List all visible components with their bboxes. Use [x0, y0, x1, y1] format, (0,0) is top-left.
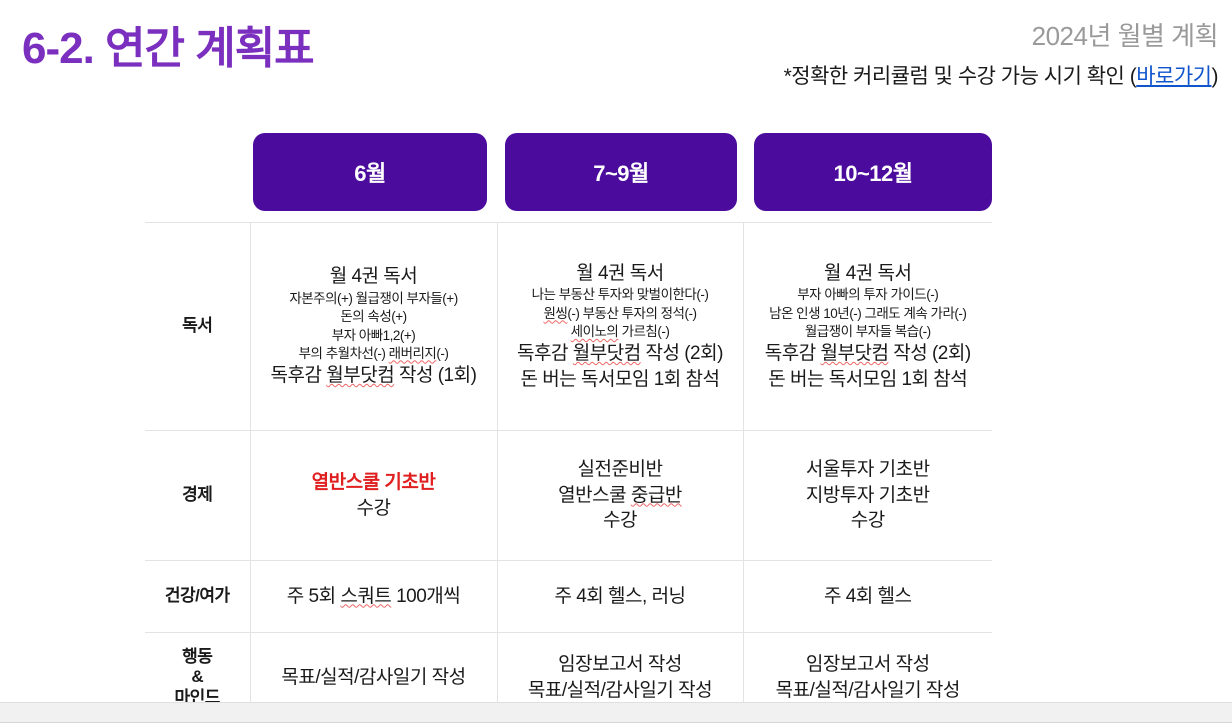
cell-line: 월 4권 독서: [502, 261, 739, 287]
column-header-chip-0: 6월: [253, 133, 487, 211]
row-label: 경제: [145, 431, 250, 561]
curriculum-note-suffix: ): [1212, 65, 1219, 88]
table-cell: 주 4회 헬스, 러닝: [497, 561, 743, 633]
cell-line: 주 4회 헬스: [748, 584, 989, 610]
cell-line: 월 4권 독서: [255, 264, 493, 290]
cell-line: 목표/실적/감사일기 작성: [502, 678, 739, 704]
cell-line: 열반스쿨 기초반: [255, 470, 493, 496]
cell-line: 수강: [255, 496, 493, 522]
cell-line: 자본주의(+) 월급쟁이 부자들(+): [255, 290, 493, 308]
cell-line: 남온 인생 10년(-) 그래도 계속 가라(-): [748, 305, 989, 323]
cell-line: 임장보고서 작성: [502, 652, 739, 678]
table-cell: 월 4권 독서부자 아빠의 투자 가이드(-)남온 인생 10년(-) 그래도 …: [743, 223, 992, 431]
year-label: 2024년 월별 계획: [784, 16, 1218, 53]
cell-line: 지방투자 기초반: [748, 483, 989, 509]
page-title: 6-2. 연간 계획표: [22, 12, 314, 76]
table-cell: 열반스쿨 기초반수강: [250, 431, 497, 561]
table-cell: 월 4권 독서자본주의(+) 월급쟁이 부자들(+)돈의 속성(+)부자 아빠1…: [250, 223, 497, 431]
bottom-white-strip: [0, 723, 1232, 728]
curriculum-link[interactable]: 바로가기: [1136, 65, 1211, 88]
slide-page: 6-2. 연간 계획표 2024년 월별 계획 *정확한 커리큘럼 및 수강 가…: [0, 0, 1232, 728]
row-label: 독서: [145, 223, 250, 431]
cell-line: 돈의 속성(+): [255, 308, 493, 326]
annual-plan-table: 독서월 4권 독서자본주의(+) 월급쟁이 부자들(+)돈의 속성(+)부자 아…: [145, 222, 992, 723]
cell-line: 주 4회 헬스, 러닝: [502, 584, 739, 610]
cell-line: 목표/실적/감사일기 작성: [748, 678, 989, 704]
table-cell: 월 4권 독서나는 부동산 투자와 맞벌이한다(-)원씽(-) 부동산 투자의 …: [497, 223, 743, 431]
cell-line: 월 4권 독서: [748, 261, 989, 287]
cell-line: 돈 버는 독서모임 1회 참석: [748, 367, 989, 393]
bottom-overlay-bar: [0, 702, 1232, 723]
table-row: 경제열반스쿨 기초반수강실전준비반열반스쿨 중급반수강서울투자 기초반지방투자 …: [145, 431, 992, 561]
cell-line: 나는 부동산 투자와 맞벌이한다(-): [502, 286, 739, 304]
cell-line: 임장보고서 작성: [748, 652, 989, 678]
cell-line: 독후감 월부닷컴 작성 (2회): [748, 341, 989, 367]
cell-line: 부의 추월차선(-) 래버리지(-): [255, 345, 493, 363]
table-cell: 주 4회 헬스: [743, 561, 992, 633]
cell-line: 독후감 월부닷컴 작성 (2회): [502, 341, 739, 367]
column-header-chip-1: 7~9월: [505, 133, 737, 211]
cell-line: 부자 아빠의 투자 가이드(-): [748, 286, 989, 304]
table-row: 독서월 4권 독서자본주의(+) 월급쟁이 부자들(+)돈의 속성(+)부자 아…: [145, 223, 992, 431]
plan-table-body: 독서월 4권 독서자본주의(+) 월급쟁이 부자들(+)돈의 속성(+)부자 아…: [145, 223, 992, 723]
row-label: 건강/여가: [145, 561, 250, 633]
table-cell: 주 5회 스쿼트 100개씩: [250, 561, 497, 633]
cell-line: 목표/실적/감사일기 작성: [255, 665, 493, 691]
table-cell: 실전준비반열반스쿨 중급반수강: [497, 431, 743, 561]
header-right-block: 2024년 월별 계획 *정확한 커리큘럼 및 수강 가능 시기 확인 (바로가…: [784, 16, 1218, 90]
cell-line: 세이노의 가르침(-): [502, 323, 739, 341]
cell-line: 서울투자 기초반: [748, 457, 989, 483]
curriculum-note-prefix: *정확한 커리큘럼 및 수강 가능 시기 확인 (: [784, 65, 1137, 88]
curriculum-note: *정확한 커리큘럼 및 수강 가능 시기 확인 (바로가기): [784, 60, 1218, 90]
cell-line: 원씽(-) 부동산 투자의 정석(-): [502, 305, 739, 323]
column-header-chip-2: 10~12월: [754, 133, 992, 211]
cell-line: 돈 버는 독서모임 1회 참석: [502, 367, 739, 393]
cell-line: 독후감 월부닷컴 작성 (1회): [255, 363, 493, 389]
column-header-row: 6월 7~9월 10~12월: [145, 133, 992, 211]
cell-line: 주 5회 스쿼트 100개씩: [255, 584, 493, 610]
cell-line: 부자 아빠1,2(+): [255, 327, 493, 345]
table-cell: 서울투자 기초반지방투자 기초반수강: [743, 431, 992, 561]
cell-line: 수강: [502, 508, 739, 534]
cell-line: 열반스쿨 중급반: [502, 483, 739, 509]
cell-line: 수강: [748, 508, 989, 534]
cell-line: 실전준비반: [502, 457, 739, 483]
table-row: 건강/여가주 5회 스쿼트 100개씩주 4회 헬스, 러닝주 4회 헬스: [145, 561, 992, 633]
cell-line: 월급쟁이 부자들 복습(-): [748, 323, 989, 341]
